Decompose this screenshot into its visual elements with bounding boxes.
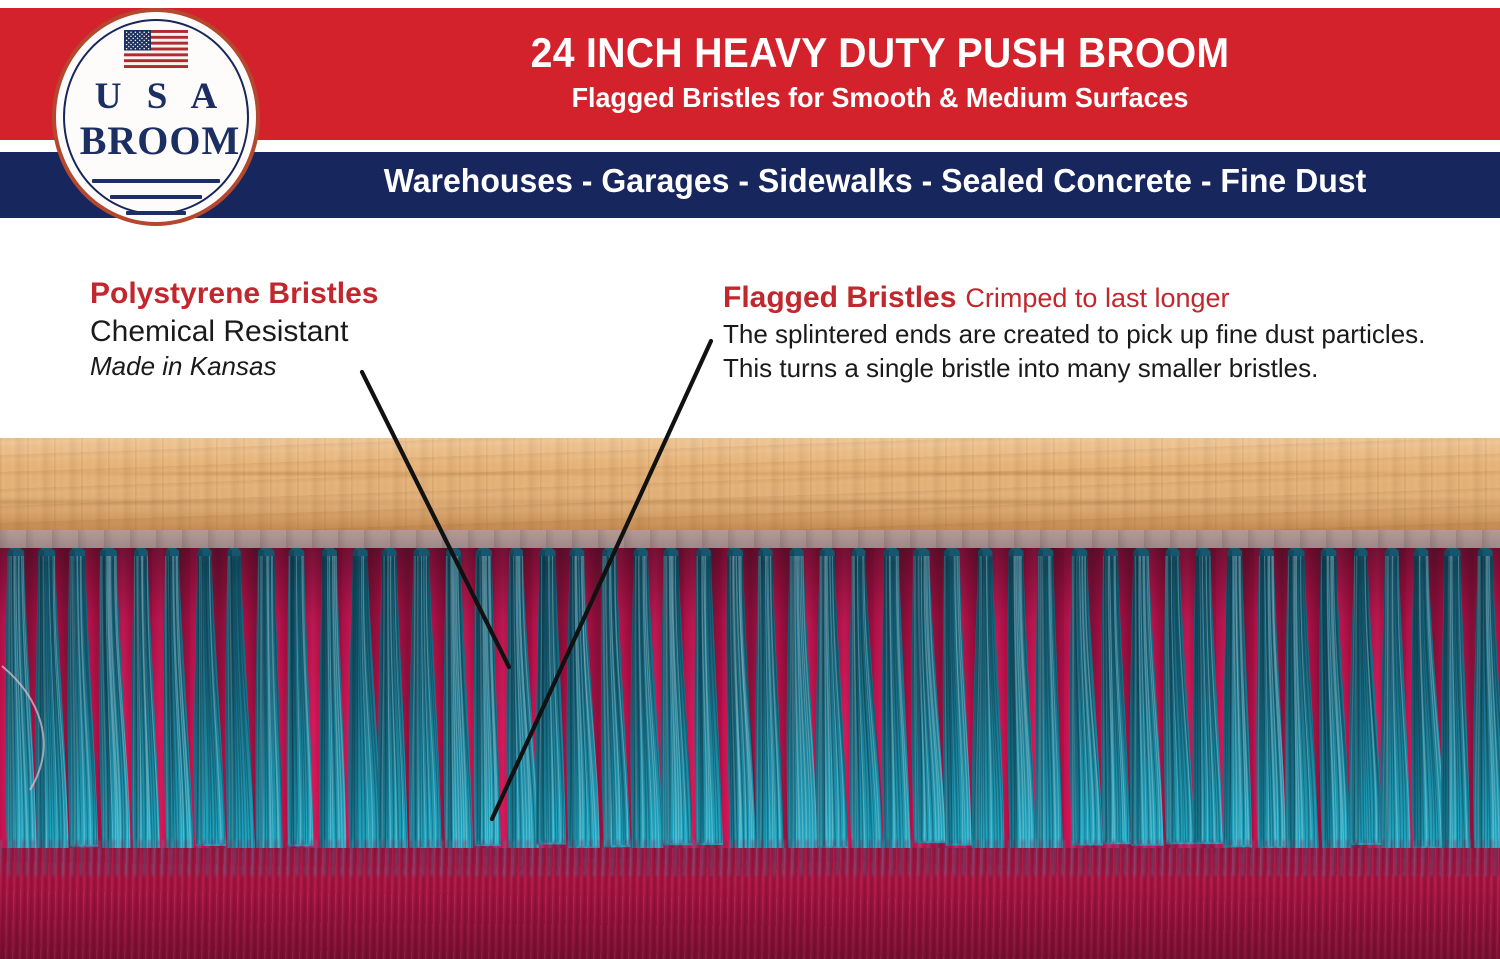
broom-wood-block <box>0 438 1500 532</box>
bristle-field <box>0 548 1500 959</box>
logo-text-broom: BROOM <box>56 121 260 161</box>
page-subtitle: Flagged Bristles for Smooth & Medium Sur… <box>285 84 1475 112</box>
callout-flagged-bristles: Flagged BristlesCrimped to last longer T… <box>723 280 1453 385</box>
logo-rule-top <box>92 179 220 183</box>
callout-right-heading: Flagged Bristles <box>723 281 956 314</box>
callout-left-heading: Polystyrene Bristles <box>90 276 510 313</box>
wood-grain-line <box>0 472 1500 475</box>
callout-left-line2: Chemical Resistant <box>90 313 510 351</box>
callout-right-heading-suffix: Crimped to last longer <box>965 283 1229 313</box>
callout-text-area: Polystyrene Bristles Chemical Resistant … <box>0 225 1500 438</box>
applications-text: Warehouses - Garages - Sidewalks - Seale… <box>269 164 1482 197</box>
header-banner: 24 INCH HEAVY DUTY PUSH BROOM Flagged Br… <box>0 0 1500 225</box>
callout-left-line3: Made in Kansas <box>90 350 510 384</box>
callout-right-body: The splintered ends are created to pick … <box>723 317 1453 386</box>
logo-rule-bottom <box>126 211 186 215</box>
product-photo <box>0 438 1500 959</box>
wood-grain-line <box>0 500 1500 504</box>
callout-polystyrene-bristles: Polystyrene Bristles Chemical Resistant … <box>90 276 510 384</box>
flagged-transition-fuzz <box>0 840 1500 876</box>
us-flag-icon <box>124 30 188 68</box>
photo-bottom-shading <box>0 889 1500 959</box>
usa-broom-logo: U S A BROOM <box>52 8 260 226</box>
logo-rule-middle <box>110 195 202 199</box>
page-title: 24 INCH HEAVY DUTY PUSH BROOM <box>303 32 1456 74</box>
logo-text-usa: U S A <box>56 78 260 115</box>
